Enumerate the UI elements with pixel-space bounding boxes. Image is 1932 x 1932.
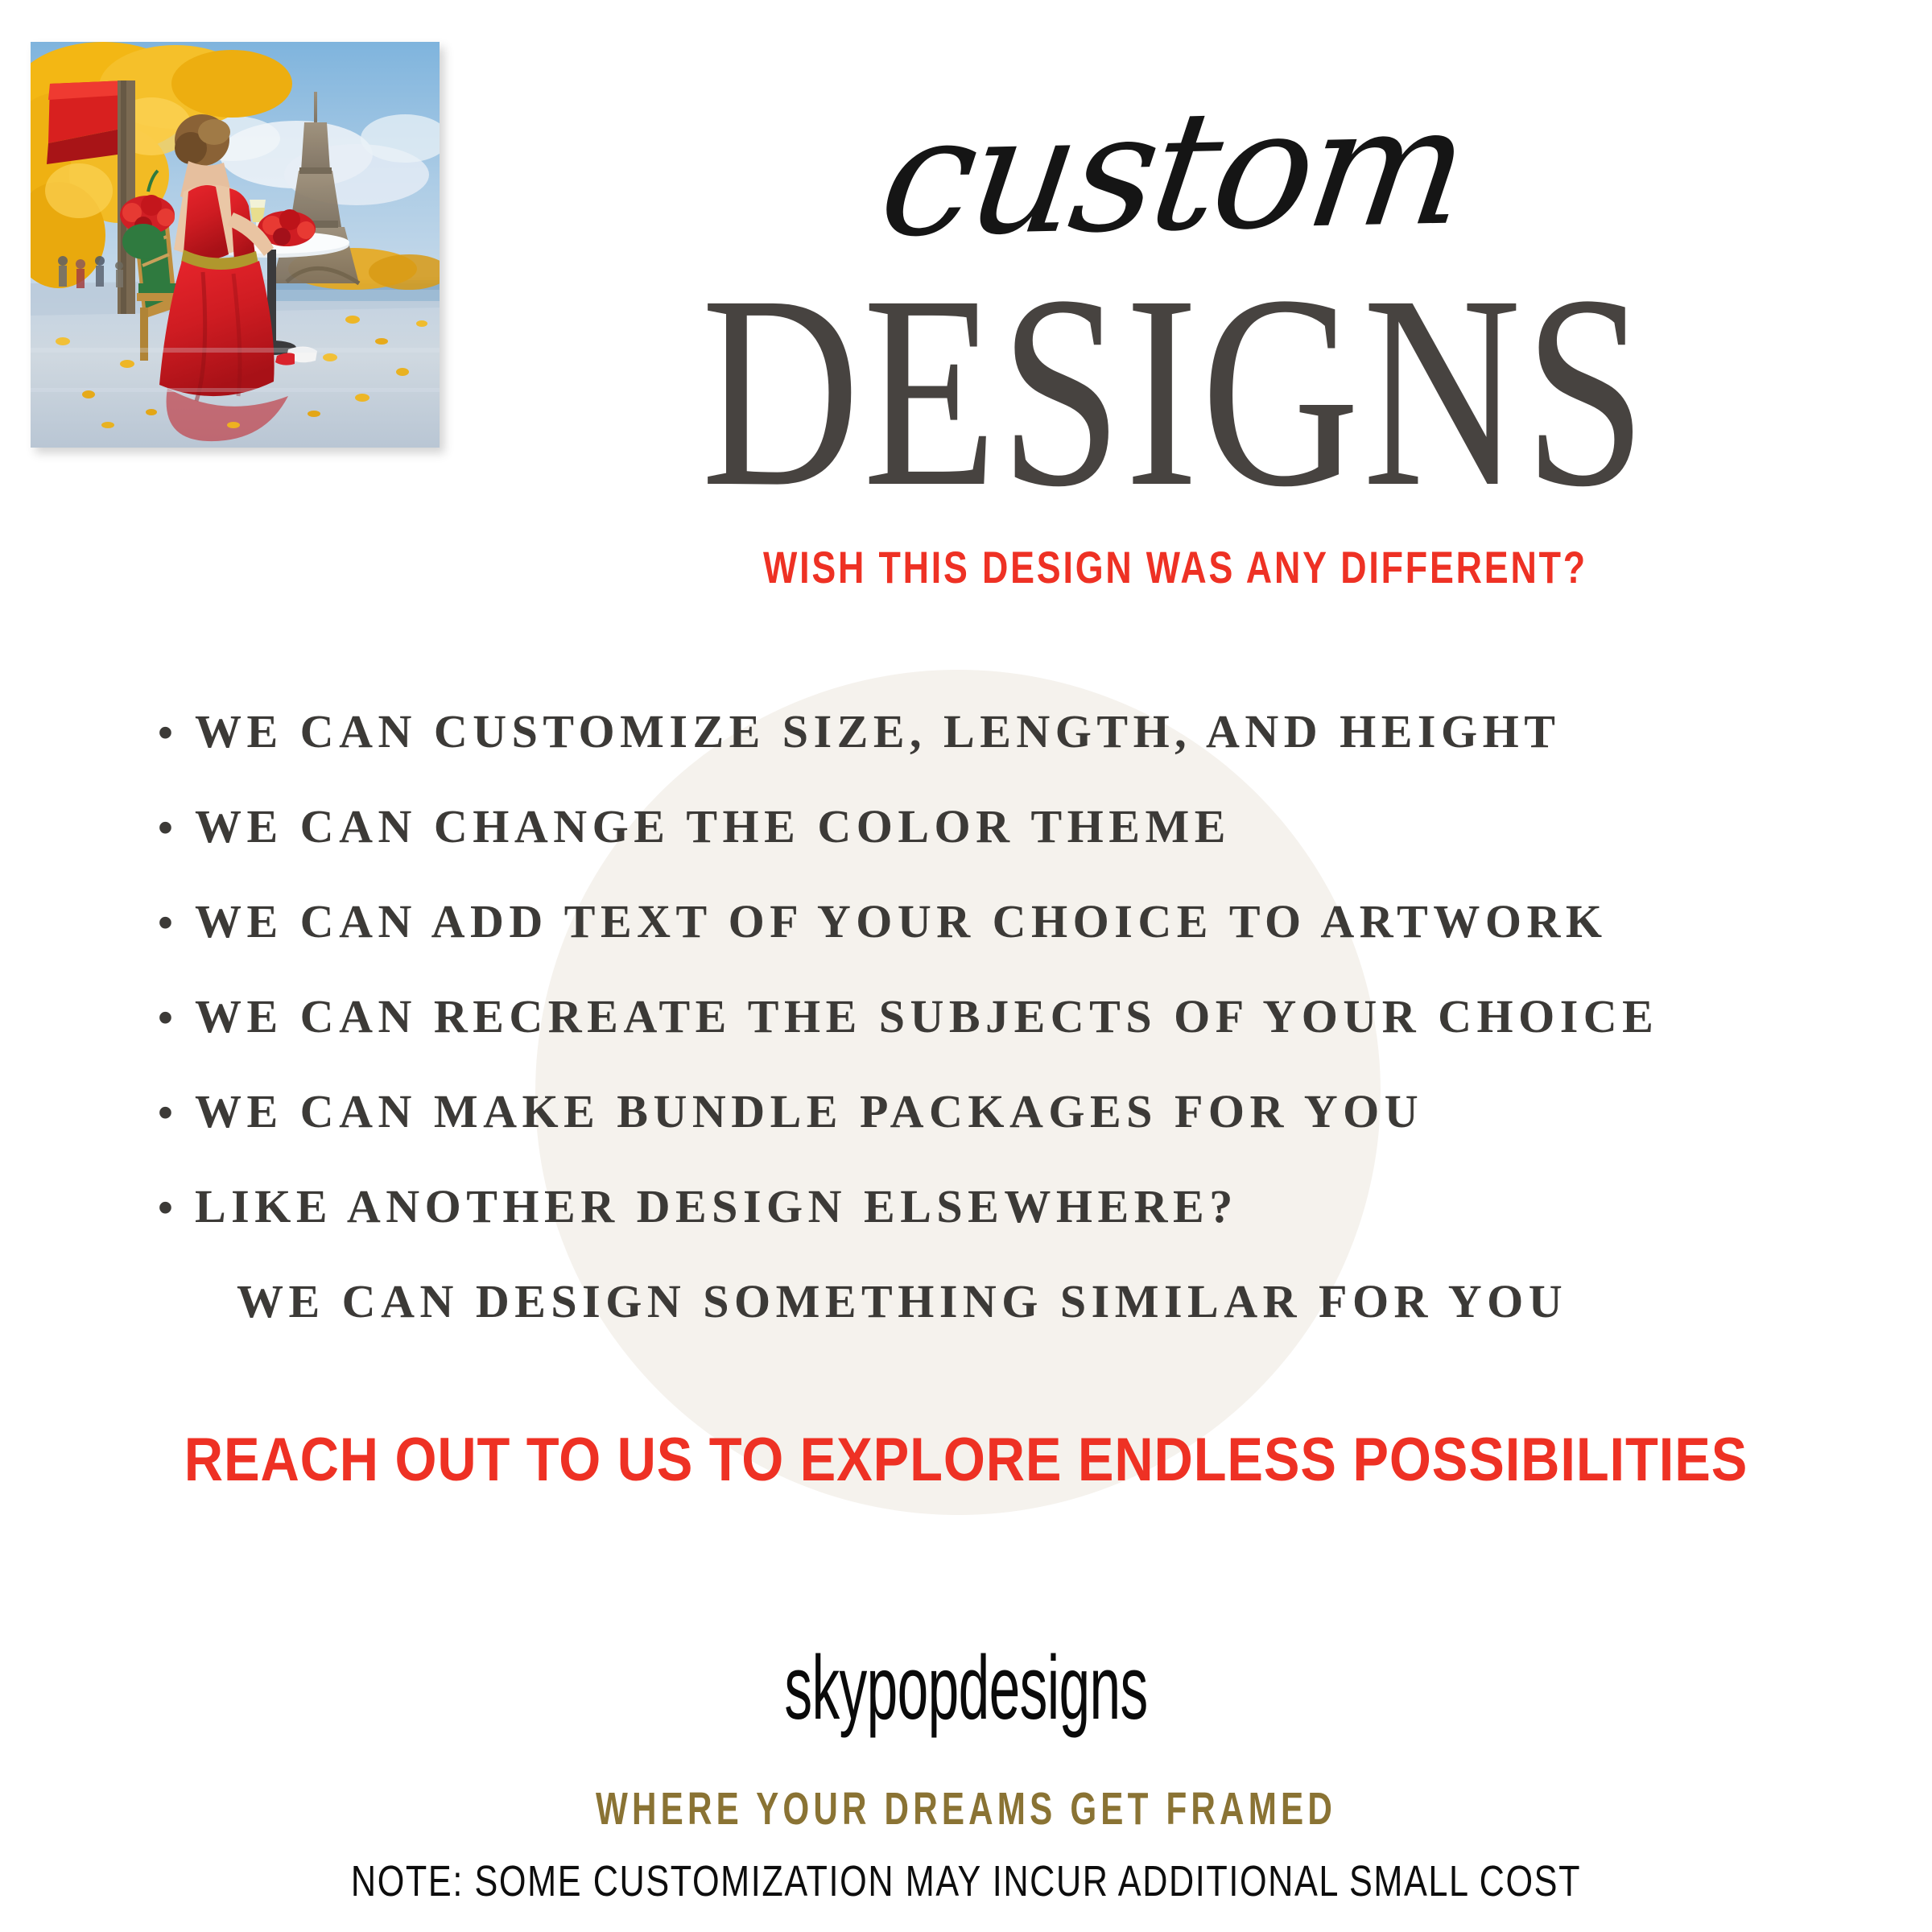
list-item: • WE CAN RECREATE THE SUBJECTS OF YOUR C… [0, 993, 1932, 1088]
headline-block: custom DESIGNS WISH THIS DESIGN WAS ANY … [451, 48, 1900, 593]
list-item-label: WE CAN RECREATE THE SUBJECTS OF YOUR CHO… [195, 993, 1658, 1040]
bullet-point-icon: • [158, 1091, 195, 1134]
list-item-continuation: WE CAN DESIGN SOMETHING SIMILAR FOR YOU [0, 1278, 1932, 1373]
list-item-label: LIKE ANOTHER DESIGN ELSEWHERE? [195, 1183, 1238, 1230]
list-item: • WE CAN MAKE BUNDLE PACKAGES FOR YOU [0, 1088, 1932, 1183]
list-item-label: WE CAN ADD TEXT OF YOUR CHOICE TO ARTWOR… [195, 898, 1607, 945]
bullet-point-icon: • [158, 996, 195, 1039]
brand-logo-text: skypopdesigns [367, 1636, 1565, 1740]
disclaimer-note: NOTE: SOME CUSTOMIZATION MAY INCUR ADDIT… [193, 1856, 1739, 1906]
list-item-label: WE CAN CUSTOMIZE SIZE, LENGTH, AND HEIGH… [195, 708, 1560, 755]
list-item-label: WE CAN MAKE BUNDLE PACKAGES FOR YOU [195, 1088, 1423, 1135]
list-item-label: WE CAN DESIGN SOMETHING SIMILAR FOR YOU [237, 1278, 1567, 1325]
custom-designs-poster: custom DESIGNS WISH THIS DESIGN WAS ANY … [0, 0, 1932, 1932]
list-item-label: WE CAN CHANGE THE COLOR THEME [195, 803, 1231, 850]
list-item: • LIKE ANOTHER DESIGN ELSEWHERE? [0, 1183, 1932, 1278]
brand-tagline: WHERE YOUR DREAMS GET FRAMED [251, 1782, 1681, 1835]
customization-options-list: • WE CAN CUSTOMIZE SIZE, LENGTH, AND HEI… [0, 708, 1932, 1373]
bullet-point-icon: • [158, 711, 195, 754]
artwork-thumbnail[interactable] [31, 42, 440, 448]
subtitle-question: WISH THIS DESIGN WAS ANY DIFFERENT? [596, 541, 1755, 593]
list-item: • WE CAN CHANGE THE COLOR THEME [0, 803, 1932, 898]
bullet-point-icon: • [158, 806, 195, 849]
paris-cafe-painting-illustration [31, 42, 440, 448]
page-title-designs: DESIGNS [494, 273, 1856, 510]
list-item: • WE CAN CUSTOMIZE SIZE, LENGTH, AND HEI… [0, 708, 1932, 803]
call-to-action-text: REACH OUT TO US TO EXPLORE ENDLESS POSSI… [116, 1425, 1816, 1495]
list-item: • WE CAN ADD TEXT OF YOUR CHOICE TO ARTW… [0, 898, 1932, 993]
bullet-point-icon: • [158, 901, 195, 944]
script-title-custom: custom [872, 43, 1479, 262]
bullet-point-icon: • [158, 1186, 195, 1229]
